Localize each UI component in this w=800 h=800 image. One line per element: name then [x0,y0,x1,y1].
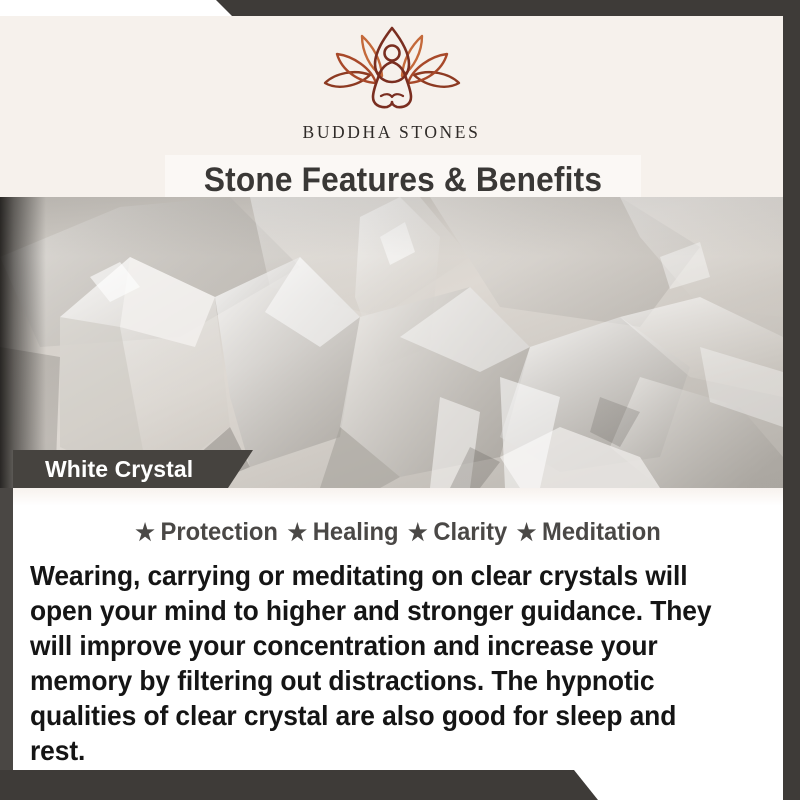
white-crystal-photo [0,197,783,488]
benefits-list: ★Protection★Healing★Clarity★Meditation [32,516,764,548]
stone-description: Wearing, carrying or meditating on clear… [30,558,731,768]
frame-top-accent [0,0,800,16]
benefit-label: Healing [313,518,399,546]
brand-logo: BUDDHA STONES [0,26,783,143]
benefit-label: Clarity [433,518,507,546]
star-icon: ★ [135,516,155,548]
benefit-label: Meditation [542,518,661,546]
benefit-item: ★Meditation [507,518,661,546]
stone-name-label: White Crystal [45,455,193,483]
frame-bottom-accent [0,770,800,800]
frame-right-accent [783,0,800,800]
stone-info-poster: BUDDHA STONES Stone Features & Benefits [0,0,800,800]
benefit-item: ★Protection [135,518,278,546]
benefit-item: ★Healing [278,518,399,546]
lotus-meditation-icon [317,26,467,116]
benefit-label: Protection [161,518,278,546]
body-top-fade [13,488,783,506]
star-icon: ★ [517,516,537,548]
star-icon: ★ [408,516,428,548]
header-section: BUDDHA STONES Stone Features & Benefits [0,16,783,197]
brand-name: BUDDHA STONES [0,122,783,143]
page-title: Stone Features & Benefits [182,158,625,202]
star-icon: ★ [287,516,307,548]
benefit-item: ★Clarity [399,518,508,546]
